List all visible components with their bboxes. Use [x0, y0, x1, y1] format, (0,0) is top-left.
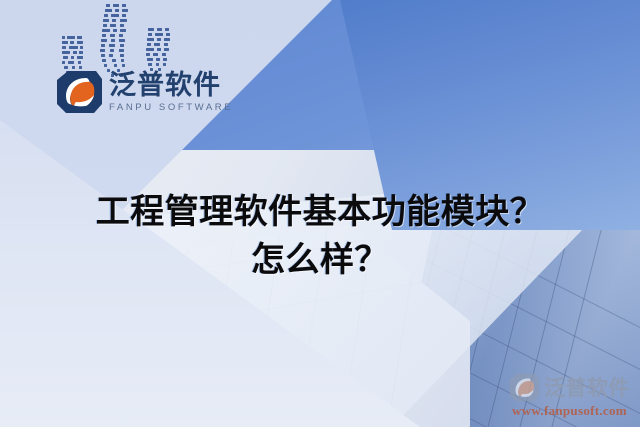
brand-name-en: FANPU SOFTWARE	[109, 103, 233, 113]
banner-headline: 工程管理软件基本功能模块？ 怎么样？	[0, 188, 640, 285]
headline-line-1: 工程管理软件基本功能模块？	[0, 188, 640, 236]
watermark-name-cn: 泛普软件	[544, 372, 630, 402]
watermark: 泛普软件 www.fanpusoft.com	[509, 372, 630, 419]
brand-logo: 泛普软件 FANPU SOFTWARE	[56, 70, 233, 114]
watermark-url: www.fanpusoft.com	[512, 403, 627, 419]
promo-banner: 泛普软件 FANPU SOFTWARE 工程管理软件基本功能模块？ 怎么样？ 泛…	[0, 0, 640, 427]
pixel-skyline-icon	[62, 2, 202, 78]
brand-name-cn: 泛普软件	[109, 72, 233, 99]
fanpu-hexagon-swoosh-icon	[56, 70, 102, 114]
watermark-fanpu-hexagon-swoosh-icon	[509, 373, 539, 402]
headline-line-2: 怎么样？	[0, 236, 640, 284]
